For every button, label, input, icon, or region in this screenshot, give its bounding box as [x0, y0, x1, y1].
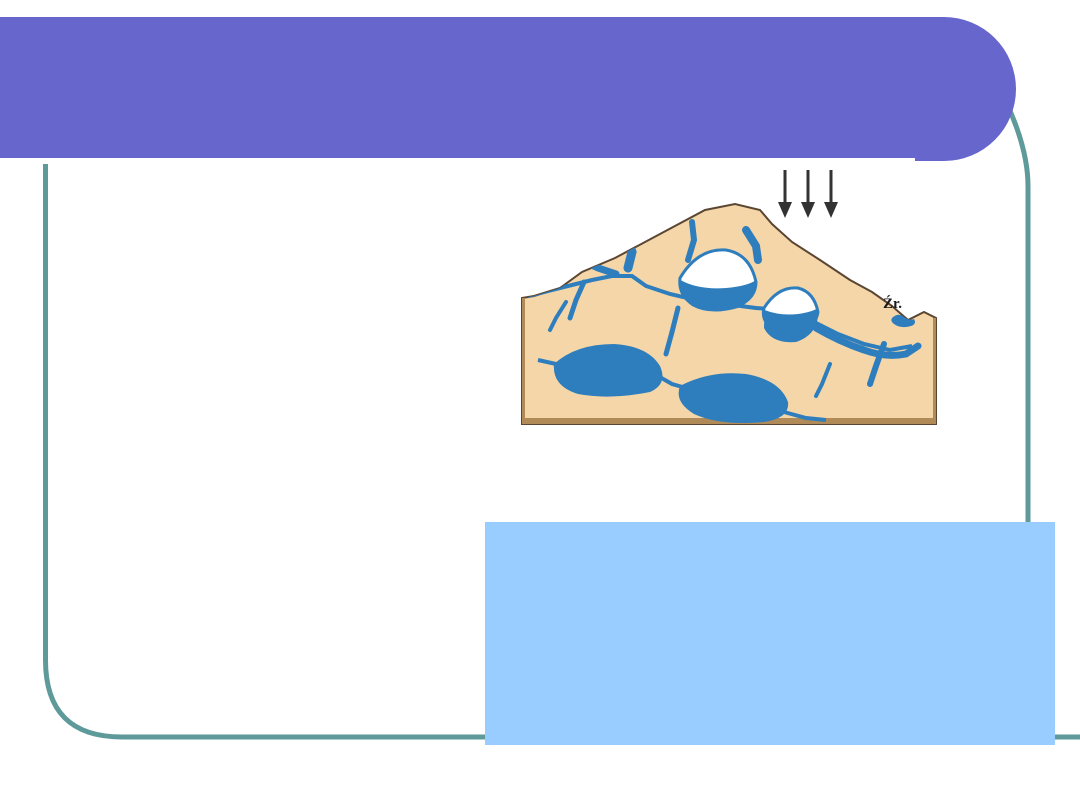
infiltration-arrows: [778, 170, 838, 218]
arrow-down-2: [801, 170, 815, 218]
header-underline-rule: [0, 158, 915, 164]
content-callout-box[interactable]: [485, 522, 1055, 745]
figure-right-border: [933, 318, 936, 424]
arrow-down-1: [778, 170, 792, 218]
frame-right-path: [1007, 104, 1028, 560]
spring-label: Źr.: [883, 295, 902, 312]
groundwater-cross-section-figure: Źr.: [520, 168, 940, 430]
header-banner: [0, 17, 1016, 161]
figure-left-border: [522, 298, 525, 424]
slide-canvas: Źr.: [0, 0, 1080, 810]
content-callout-text: [503, 536, 1037, 731]
arrow-down-3: [824, 170, 838, 218]
